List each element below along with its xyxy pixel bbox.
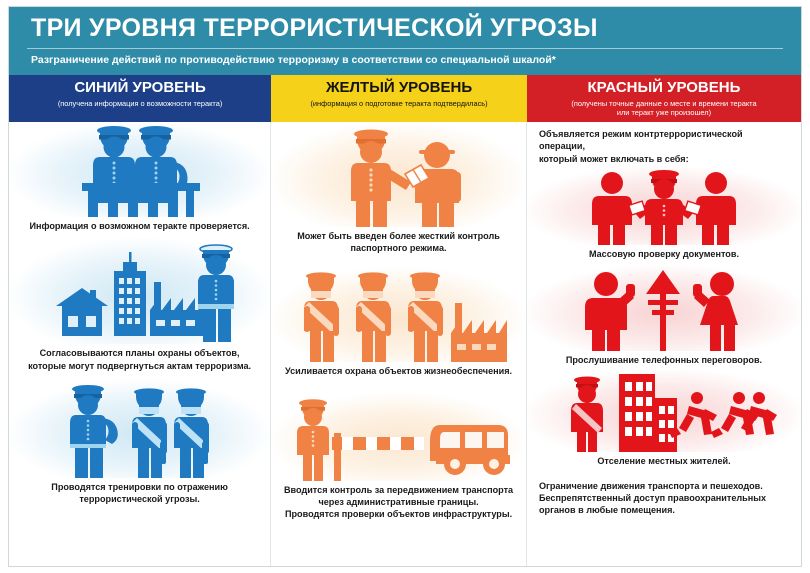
yellow-item-2: Усиливается охрана объектов жизнеобеспеч…: [271, 267, 526, 377]
poster-header: ТРИ УРОВНЯ ТЕРРОРИСТИЧЕСКОЙ УГРОЗЫ Разгр…: [9, 7, 801, 75]
blue-caption-1: Информация о возможном теракте проверяет…: [9, 217, 270, 232]
level-subtitle-red: (получены точные данные о месте и времен…: [527, 99, 801, 118]
red-item-2: Прослушивание телефонных переговоров.: [527, 266, 801, 366]
red-caption-1: Массовую проверку документов.: [527, 245, 801, 260]
page-subtitle: Разграничение действий по противодействи…: [9, 54, 801, 71]
poster-frame: ТРИ УРОВНЯ ТЕРРОРИСТИЧЕСКОЙ УГРОЗЫ Разгр…: [8, 6, 802, 567]
level-header-red: КРАСНЫЙ УРОВЕНЬ (получены точные данные …: [527, 75, 801, 122]
officer-and-squad-icon: [9, 380, 270, 478]
document-check-icon: [527, 167, 801, 245]
officers-at-desk-icon: [9, 122, 270, 217]
red-item-1: Массовую проверку документов.: [527, 167, 801, 260]
yellow-item-1: Может быть введен более жесткий контроль…: [271, 122, 526, 255]
blue-item-3: Проводятся тренировки по отражениютеррор…: [9, 380, 270, 506]
yellow-caption-1: Может быть введен более жесткий контроль…: [271, 227, 526, 255]
header-divider: [27, 48, 783, 49]
level-header-band: СИНИЙ УРОВЕНЬ (получена информация о воз…: [9, 75, 801, 122]
level-columns: Информация о возможном теракте проверяет…: [9, 122, 801, 567]
level-title-yellow: ЖЕЛТЫЙ УРОВЕНЬ: [271, 80, 527, 97]
blue-item-1: Информация о возможном теракте проверяет…: [9, 122, 270, 232]
red-lead-text: Объявляется режим контртеррористической …: [527, 122, 801, 167]
red-item-3: Отселение местных жителей.: [527, 370, 801, 467]
blue-caption-3: Проводятся тренировки по отражениютеррор…: [9, 478, 270, 506]
phone-tapping-icon: [527, 266, 801, 351]
red-caption-3: Отселение местных жителей.: [527, 452, 801, 467]
evacuation-icon: [527, 370, 801, 452]
level-subtitle-blue: (получена информация о возможности терак…: [9, 99, 271, 108]
column-blue-level: Информация о возможном теракте проверяет…: [9, 122, 271, 567]
level-subtitle-yellow: (информация о подготовке теракта подтвер…: [271, 99, 527, 108]
yellow-item-3: Вводится контроль за передвижением транс…: [271, 393, 526, 521]
level-title-blue: СИНИЙ УРОВЕНЬ: [9, 80, 271, 97]
red-tail-text: Ограничение движения транспорта и пешехо…: [527, 468, 801, 517]
yellow-caption-2: Усиливается охрана объектов жизнеобеспеч…: [271, 362, 526, 377]
blue-caption-2: Согласовываются планы охраны объектов,ко…: [9, 344, 270, 372]
poster: ТРИ УРОВНЯ ТЕРРОРИСТИЧЕСКОЙ УГРОЗЫ Разгр…: [0, 0, 810, 573]
level-header-yellow: ЖЕЛТЫЙ УРОВЕНЬ (информация о подготовке …: [271, 75, 527, 122]
page-title: ТРИ УРОВНЯ ТЕРРОРИСТИЧЕСКОЙ УГРОЗЫ: [9, 13, 801, 45]
passport-check-icon: [271, 122, 526, 227]
column-red-level: Объявляется режим контртеррористической …: [527, 122, 801, 567]
level-title-red: КРАСНЫЙ УРОВЕНЬ: [527, 80, 801, 97]
red-caption-2: Прослушивание телефонных переговоров.: [527, 351, 801, 366]
column-yellow-level: Может быть введен более жесткий контроль…: [271, 122, 527, 567]
guards-and-factory-icon: [271, 267, 526, 362]
level-header-blue: СИНИЙ УРОВЕНЬ (получена информация о воз…: [9, 75, 271, 122]
buildings-and-officer-icon: [9, 238, 270, 344]
blue-item-2: Согласовываются планы охраны объектов,ко…: [9, 238, 270, 372]
checkpoint-and-bus-icon: [271, 393, 526, 481]
yellow-caption-3: Вводится контроль за передвижением транс…: [271, 481, 526, 521]
